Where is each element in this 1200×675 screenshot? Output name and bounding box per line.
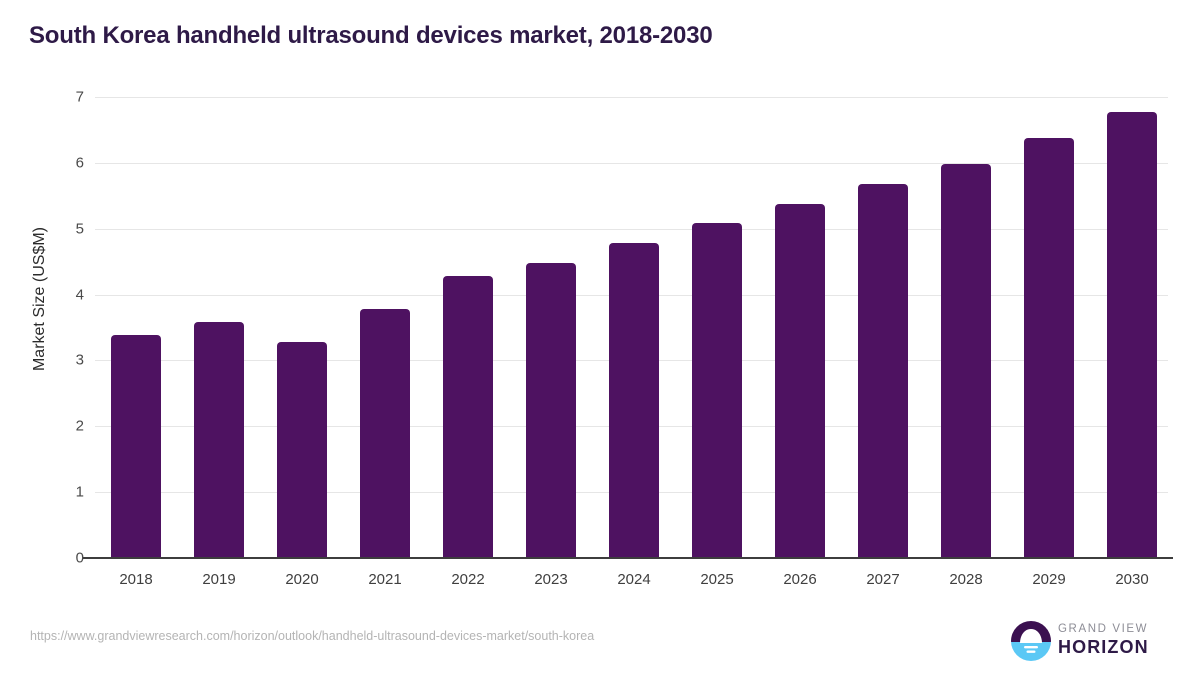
bar[interactable] xyxy=(277,342,327,558)
x-axis-tick-label: 2020 xyxy=(262,571,342,588)
y-axis-tick-label: 3 xyxy=(44,352,84,369)
gridline xyxy=(95,229,1168,230)
x-axis-tick-label: 2026 xyxy=(760,571,840,588)
y-axis-tick-label: 7 xyxy=(44,89,84,106)
logo-text: GRAND VIEW HORIZON xyxy=(1058,622,1149,658)
bar[interactable] xyxy=(526,263,576,558)
bar[interactable] xyxy=(858,184,908,558)
y-axis-tick-label: 1 xyxy=(44,484,84,501)
bar[interactable] xyxy=(1107,112,1157,559)
x-axis-tick-label: 2029 xyxy=(1009,571,1089,588)
x-axis-tick-label: 2027 xyxy=(843,571,923,588)
bar[interactable] xyxy=(775,204,825,558)
y-axis-tick-label: 5 xyxy=(44,220,84,237)
plot-area xyxy=(95,97,1168,558)
chart-canvas: South Korea handheld ultrasound devices … xyxy=(0,0,1200,675)
logo-line-grand-view: GRAND VIEW xyxy=(1058,622,1149,637)
y-axis-tick-label: 2 xyxy=(44,418,84,435)
x-axis-tick-label: 2022 xyxy=(428,571,508,588)
x-axis-tick-label: 2024 xyxy=(594,571,674,588)
x-axis-tick-label: 2025 xyxy=(677,571,757,588)
bar[interactable] xyxy=(941,164,991,558)
x-axis-tick-label: 2030 xyxy=(1092,571,1172,588)
horizon-circle-icon xyxy=(1010,620,1052,662)
gridline xyxy=(95,97,1168,98)
bar[interactable] xyxy=(1024,138,1074,558)
bar[interactable] xyxy=(692,223,742,558)
bar[interactable] xyxy=(111,335,161,558)
x-axis-tick-label: 2021 xyxy=(345,571,425,588)
y-axis-tick-labels: 01234567 xyxy=(36,97,84,558)
y-axis-tick-label: 0 xyxy=(44,550,84,567)
y-axis-tick-label: 4 xyxy=(44,286,84,303)
bar[interactable] xyxy=(194,322,244,558)
grand-view-horizon-logo[interactable]: GRAND VIEW HORIZON xyxy=(1010,618,1170,664)
gridline xyxy=(95,163,1168,164)
bar[interactable] xyxy=(443,276,493,558)
x-axis-tick-label: 2023 xyxy=(511,571,591,588)
bar[interactable] xyxy=(360,309,410,558)
bar[interactable] xyxy=(609,243,659,558)
page-title: South Korea handheld ultrasound devices … xyxy=(29,22,713,50)
x-axis-tick-label: 2018 xyxy=(96,571,176,588)
logo-line-horizon: HORIZON xyxy=(1058,637,1149,658)
y-axis-tick-label: 6 xyxy=(44,154,84,171)
x-axis-tick-label: 2019 xyxy=(179,571,259,588)
source-url[interactable]: https://www.grandviewresearch.com/horizo… xyxy=(30,629,594,643)
x-axis-line xyxy=(83,557,1173,559)
x-axis-tick-label: 2028 xyxy=(926,571,1006,588)
